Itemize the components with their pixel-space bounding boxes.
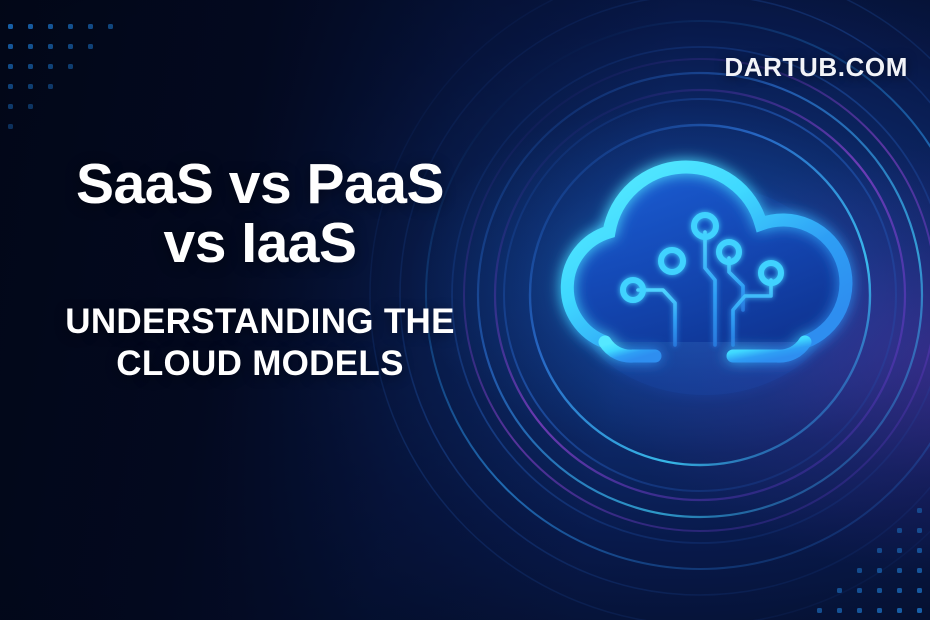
grid-dot <box>88 44 93 49</box>
grid-dot <box>68 24 73 29</box>
grid-dot <box>837 608 842 613</box>
grid-dot <box>8 24 13 29</box>
grid-dot <box>857 608 862 613</box>
headline-line-2: vs IaaS <box>0 214 520 273</box>
subhead-line-2: CLOUD MODELS <box>0 343 520 386</box>
grid-dot <box>28 64 33 69</box>
grid-dot <box>917 508 922 513</box>
grid-dot <box>897 528 902 533</box>
grid-dot <box>108 24 113 29</box>
grid-dot <box>28 24 33 29</box>
grid-dot <box>48 24 53 29</box>
grid-dot <box>917 548 922 553</box>
promo-banner: DARTUB.COM <box>0 0 930 620</box>
grid-dot <box>88 24 93 29</box>
headline-line-1: SaaS vs PaaS <box>0 155 520 214</box>
subhead-line-1: UNDERSTANDING THE <box>0 301 520 344</box>
grid-dot <box>8 44 13 49</box>
grid-dot <box>857 568 862 573</box>
grid-dot <box>917 528 922 533</box>
grid-dot <box>877 608 882 613</box>
page-title: SaaS vs PaaS vs IaaS <box>0 155 520 274</box>
dot-grid-top-left <box>0 0 120 130</box>
watermark-dartub: DARTUB.COM <box>724 52 908 83</box>
grid-dot <box>48 84 53 89</box>
grid-dot <box>8 124 13 129</box>
grid-dot <box>897 568 902 573</box>
cloud-circuit-icon <box>533 140 878 440</box>
grid-dot <box>8 104 13 109</box>
grid-dot <box>917 608 922 613</box>
grid-dot <box>897 608 902 613</box>
grid-dot <box>917 568 922 573</box>
grid-dot <box>877 588 882 593</box>
grid-dot <box>837 588 842 593</box>
grid-dot <box>68 64 73 69</box>
grid-dot <box>857 588 862 593</box>
grid-dot <box>897 548 902 553</box>
grid-dot <box>8 84 13 89</box>
grid-dot <box>917 588 922 593</box>
grid-dot <box>28 84 33 89</box>
grid-dot <box>877 568 882 573</box>
grid-dot <box>28 44 33 49</box>
grid-dot <box>48 64 53 69</box>
dot-grid-bottom-right <box>800 500 930 620</box>
grid-dot <box>817 608 822 613</box>
grid-dot <box>48 44 53 49</box>
grid-dot <box>877 548 882 553</box>
grid-dot <box>28 104 33 109</box>
grid-dot <box>8 64 13 69</box>
page-subtitle: UNDERSTANDING THE CLOUD MODELS <box>0 301 520 386</box>
grid-dot <box>68 44 73 49</box>
text-block: SaaS vs PaaS vs IaaS UNDERSTANDING THE C… <box>0 155 520 386</box>
grid-dot <box>897 588 902 593</box>
